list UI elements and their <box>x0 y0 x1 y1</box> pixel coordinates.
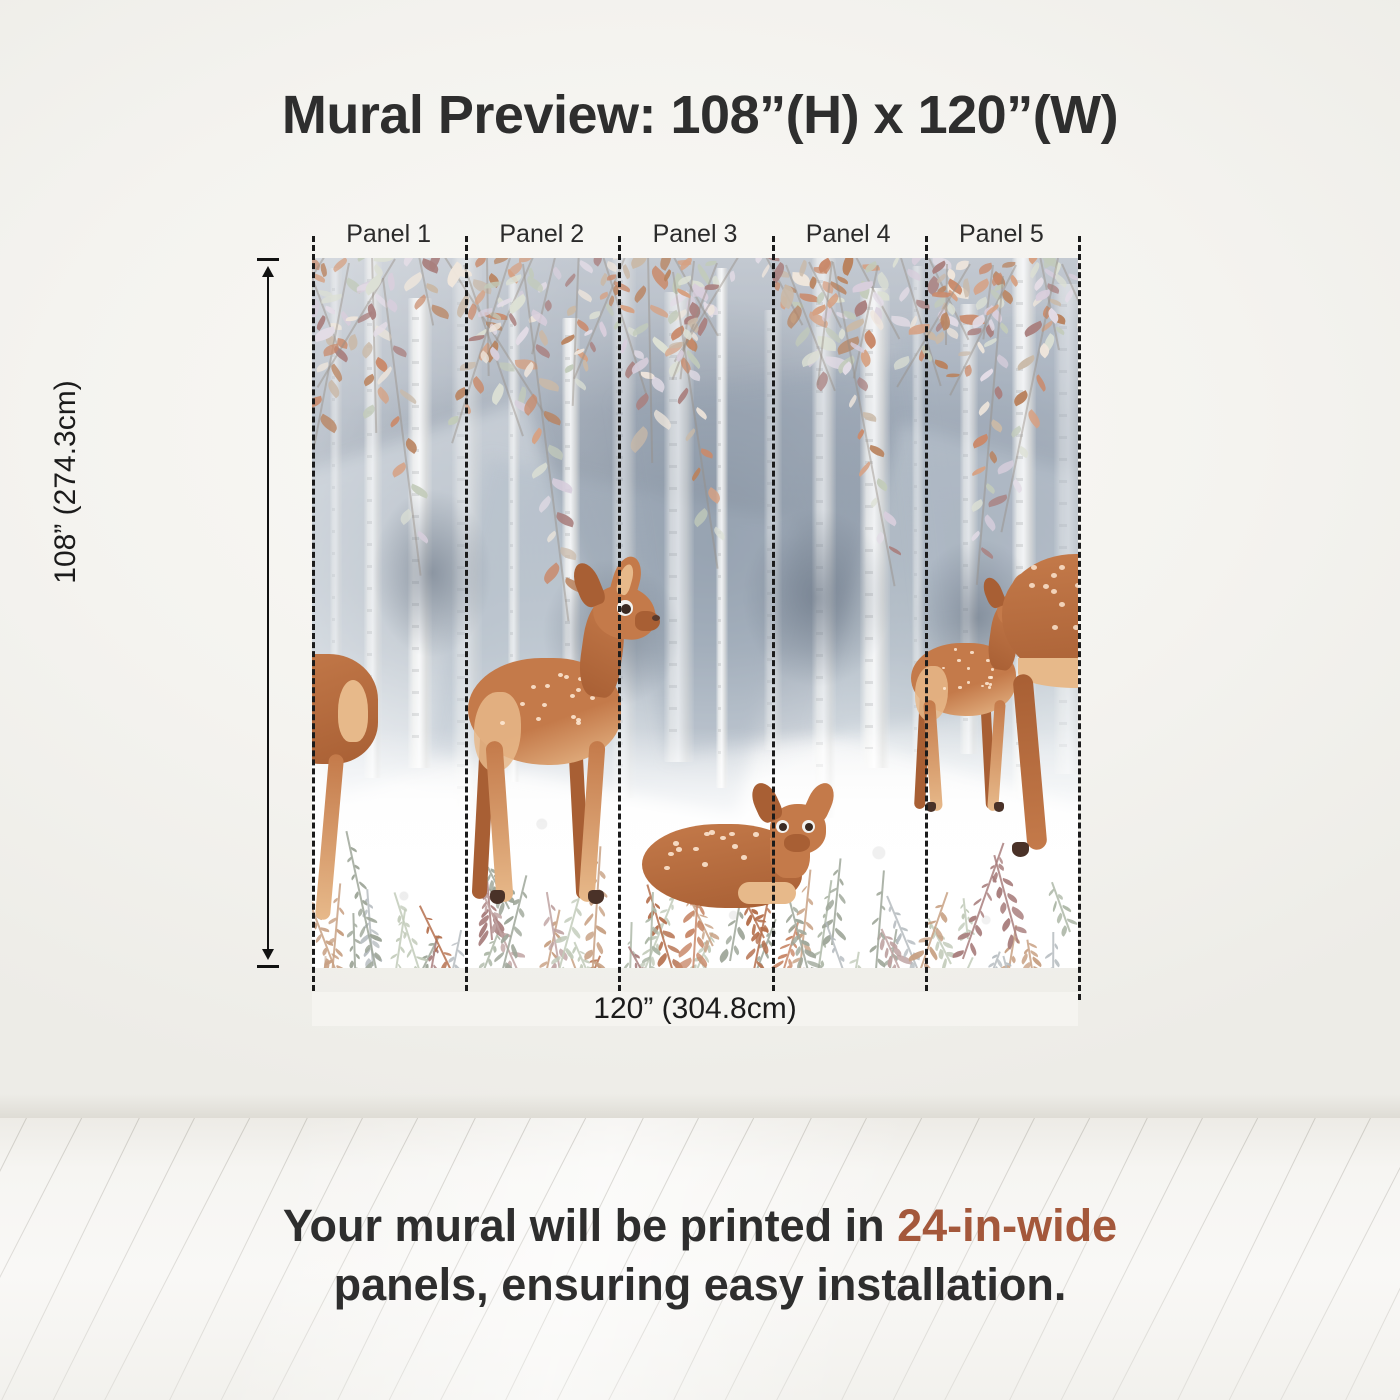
deer-leg-2 <box>315 754 344 921</box>
deer-hoof-2 <box>588 890 603 904</box>
deer-hoof-1 <box>490 890 505 904</box>
caption-text-before: Your mural will be printed in <box>283 1200 897 1251</box>
deer-pupil <box>621 604 631 614</box>
fern-leaflet <box>435 935 442 938</box>
deer-spot <box>702 862 708 867</box>
deer-nose <box>652 615 660 621</box>
deer-spot <box>693 847 699 852</box>
deer-spot <box>988 686 992 689</box>
deer-spot <box>676 847 682 852</box>
deer-spot <box>985 682 989 685</box>
deer-adult-right <box>1002 554 1078 884</box>
deer-spot <box>729 832 735 837</box>
deer-pupil-right <box>805 823 813 831</box>
deer-spot <box>1075 583 1078 588</box>
deer-spot <box>732 844 738 849</box>
deer-spot <box>536 717 541 721</box>
caption-accent-text: 24-in-wide <box>897 1200 1117 1251</box>
deer-hoof-1 <box>1012 842 1029 857</box>
page-title: Mural Preview: 108”(H) x 120”(W) <box>0 84 1400 146</box>
deer-spot <box>1052 625 1058 630</box>
deer-spot <box>1059 602 1065 607</box>
deer-spot <box>967 681 971 684</box>
deer-spot <box>558 673 563 677</box>
deer-partial-left <box>312 654 380 954</box>
deer-spot <box>958 686 962 689</box>
fawn-resting <box>642 798 842 918</box>
deer-spot <box>1029 583 1035 588</box>
fern-sprig <box>1052 932 1054 968</box>
deer-pupil-left <box>779 823 787 831</box>
deer-spot <box>720 836 726 841</box>
deer-spot <box>520 702 525 706</box>
deer-spot <box>576 718 581 722</box>
deer-spot <box>989 683 993 686</box>
fern-leaflet <box>633 962 637 968</box>
deer-tail <box>338 680 368 742</box>
deer-spot <box>1073 625 1078 630</box>
deer-spot <box>970 651 974 654</box>
forest-depth-blob <box>742 508 892 688</box>
deer-muzzle <box>784 834 810 852</box>
mural-artwork-preview <box>312 258 1078 968</box>
caption-line-1: Your mural will be printed in 24-in-wide <box>0 1196 1400 1255</box>
installation-caption: Your mural will be printed in 24-in-wide… <box>0 1196 1400 1315</box>
deer-leg-front <box>1012 673 1047 850</box>
leaf <box>946 372 959 377</box>
fawn-standing <box>462 578 656 915</box>
deer-foreleg-tucked <box>738 882 796 904</box>
deer-spot <box>500 721 505 725</box>
deer-spot <box>590 696 595 700</box>
deer-spot <box>943 687 947 690</box>
deer-spot <box>1043 584 1049 589</box>
caption-line-2: panels, ensuring easy installation. <box>0 1255 1400 1314</box>
deer-spot <box>753 832 759 837</box>
deer-spot <box>741 855 747 860</box>
